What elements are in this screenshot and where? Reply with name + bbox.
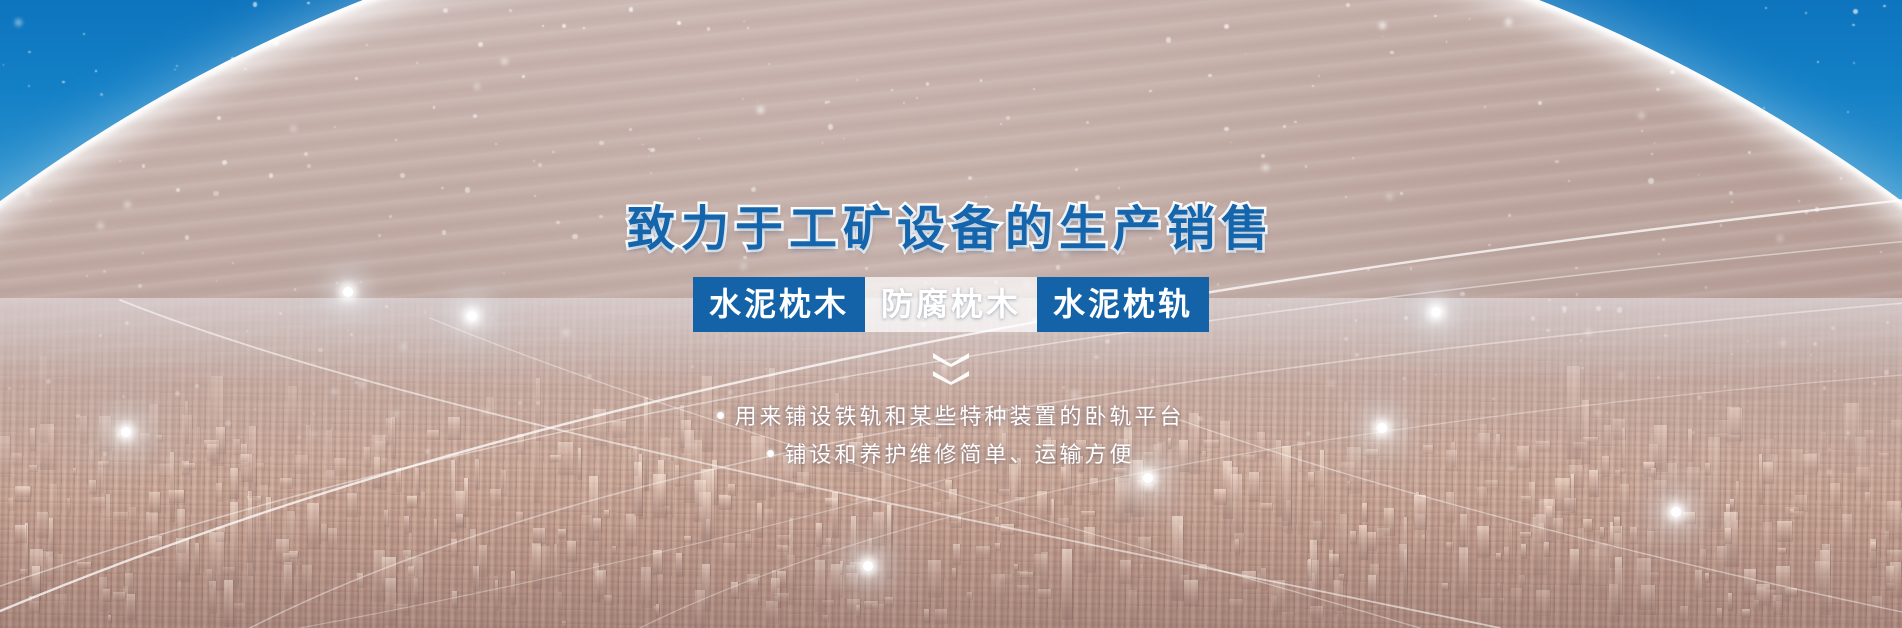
product-tag-3[interactable]: 水泥枕轨: [1037, 277, 1209, 332]
product-tag-2[interactable]: 防腐枕木: [865, 277, 1037, 332]
bullet-text: 用来铺设铁轨和某些特种装置的卧轨平台: [734, 399, 1184, 431]
hero-banner: 致力于工矿设备的生产销售 水泥枕木 防腐枕木 水泥枕轨 用来铺设铁轨和某些特种装…: [0, 0, 1902, 628]
feature-bullet-list: 用来铺设铁轨和某些特种装置的卧轨平台 铺设和养护维修简单、运输方便: [717, 399, 1184, 469]
product-tag-1[interactable]: 水泥枕木: [693, 277, 865, 332]
product-tag-row: 水泥枕木 防腐枕木 水泥枕轨: [693, 277, 1209, 332]
bullet-dot-icon: [767, 450, 774, 457]
chevron-down-icon-top: [931, 352, 971, 367]
banner-content: 致力于工矿设备的生产销售 水泥枕木 防腐枕木 水泥枕轨 用来铺设铁轨和某些特种装…: [0, 0, 1902, 628]
list-item: 用来铺设铁轨和某些特种装置的卧轨平台: [717, 399, 1184, 431]
bullet-text: 铺设和养护维修简单、运输方便: [784, 437, 1134, 469]
list-item: 铺设和养护维修简单、运输方便: [767, 437, 1134, 469]
bullet-dot-icon: [717, 412, 724, 419]
double-chevron-down-icon: [931, 352, 971, 385]
chevron-down-icon-bottom: [931, 370, 971, 385]
banner-headline: 致力于工矿设备的生产销售: [627, 205, 1275, 253]
